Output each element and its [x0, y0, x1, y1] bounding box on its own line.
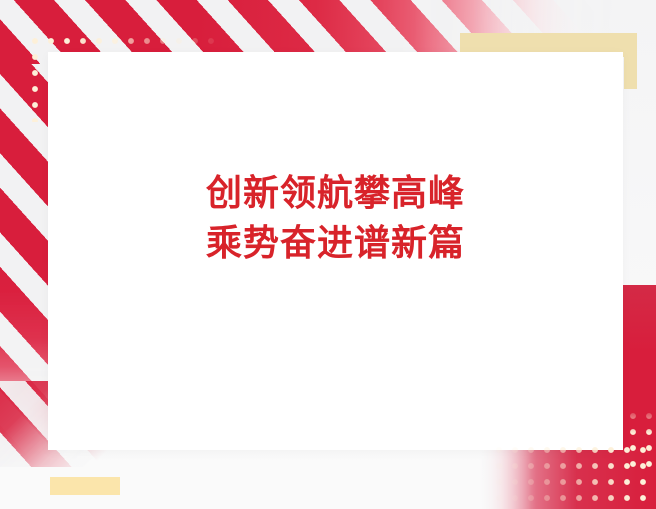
page-title: 创新领航攀高峰 乘势奋进谱新篇 — [48, 170, 623, 268]
gold-accent-bar — [50, 477, 120, 495]
title-line-2: 乘势奋进谱新篇 — [48, 220, 623, 268]
gold-bracket-vertical — [624, 33, 637, 89]
bottom-red-band — [480, 449, 656, 509]
content-card: 创新领航攀高峰 乘势奋进谱新篇 — [48, 52, 623, 450]
poster-canvas: 创新领航攀高峰 乘势奋进谱新篇 — [0, 0, 656, 509]
title-line-1: 创新领航攀高峰 — [48, 170, 623, 218]
